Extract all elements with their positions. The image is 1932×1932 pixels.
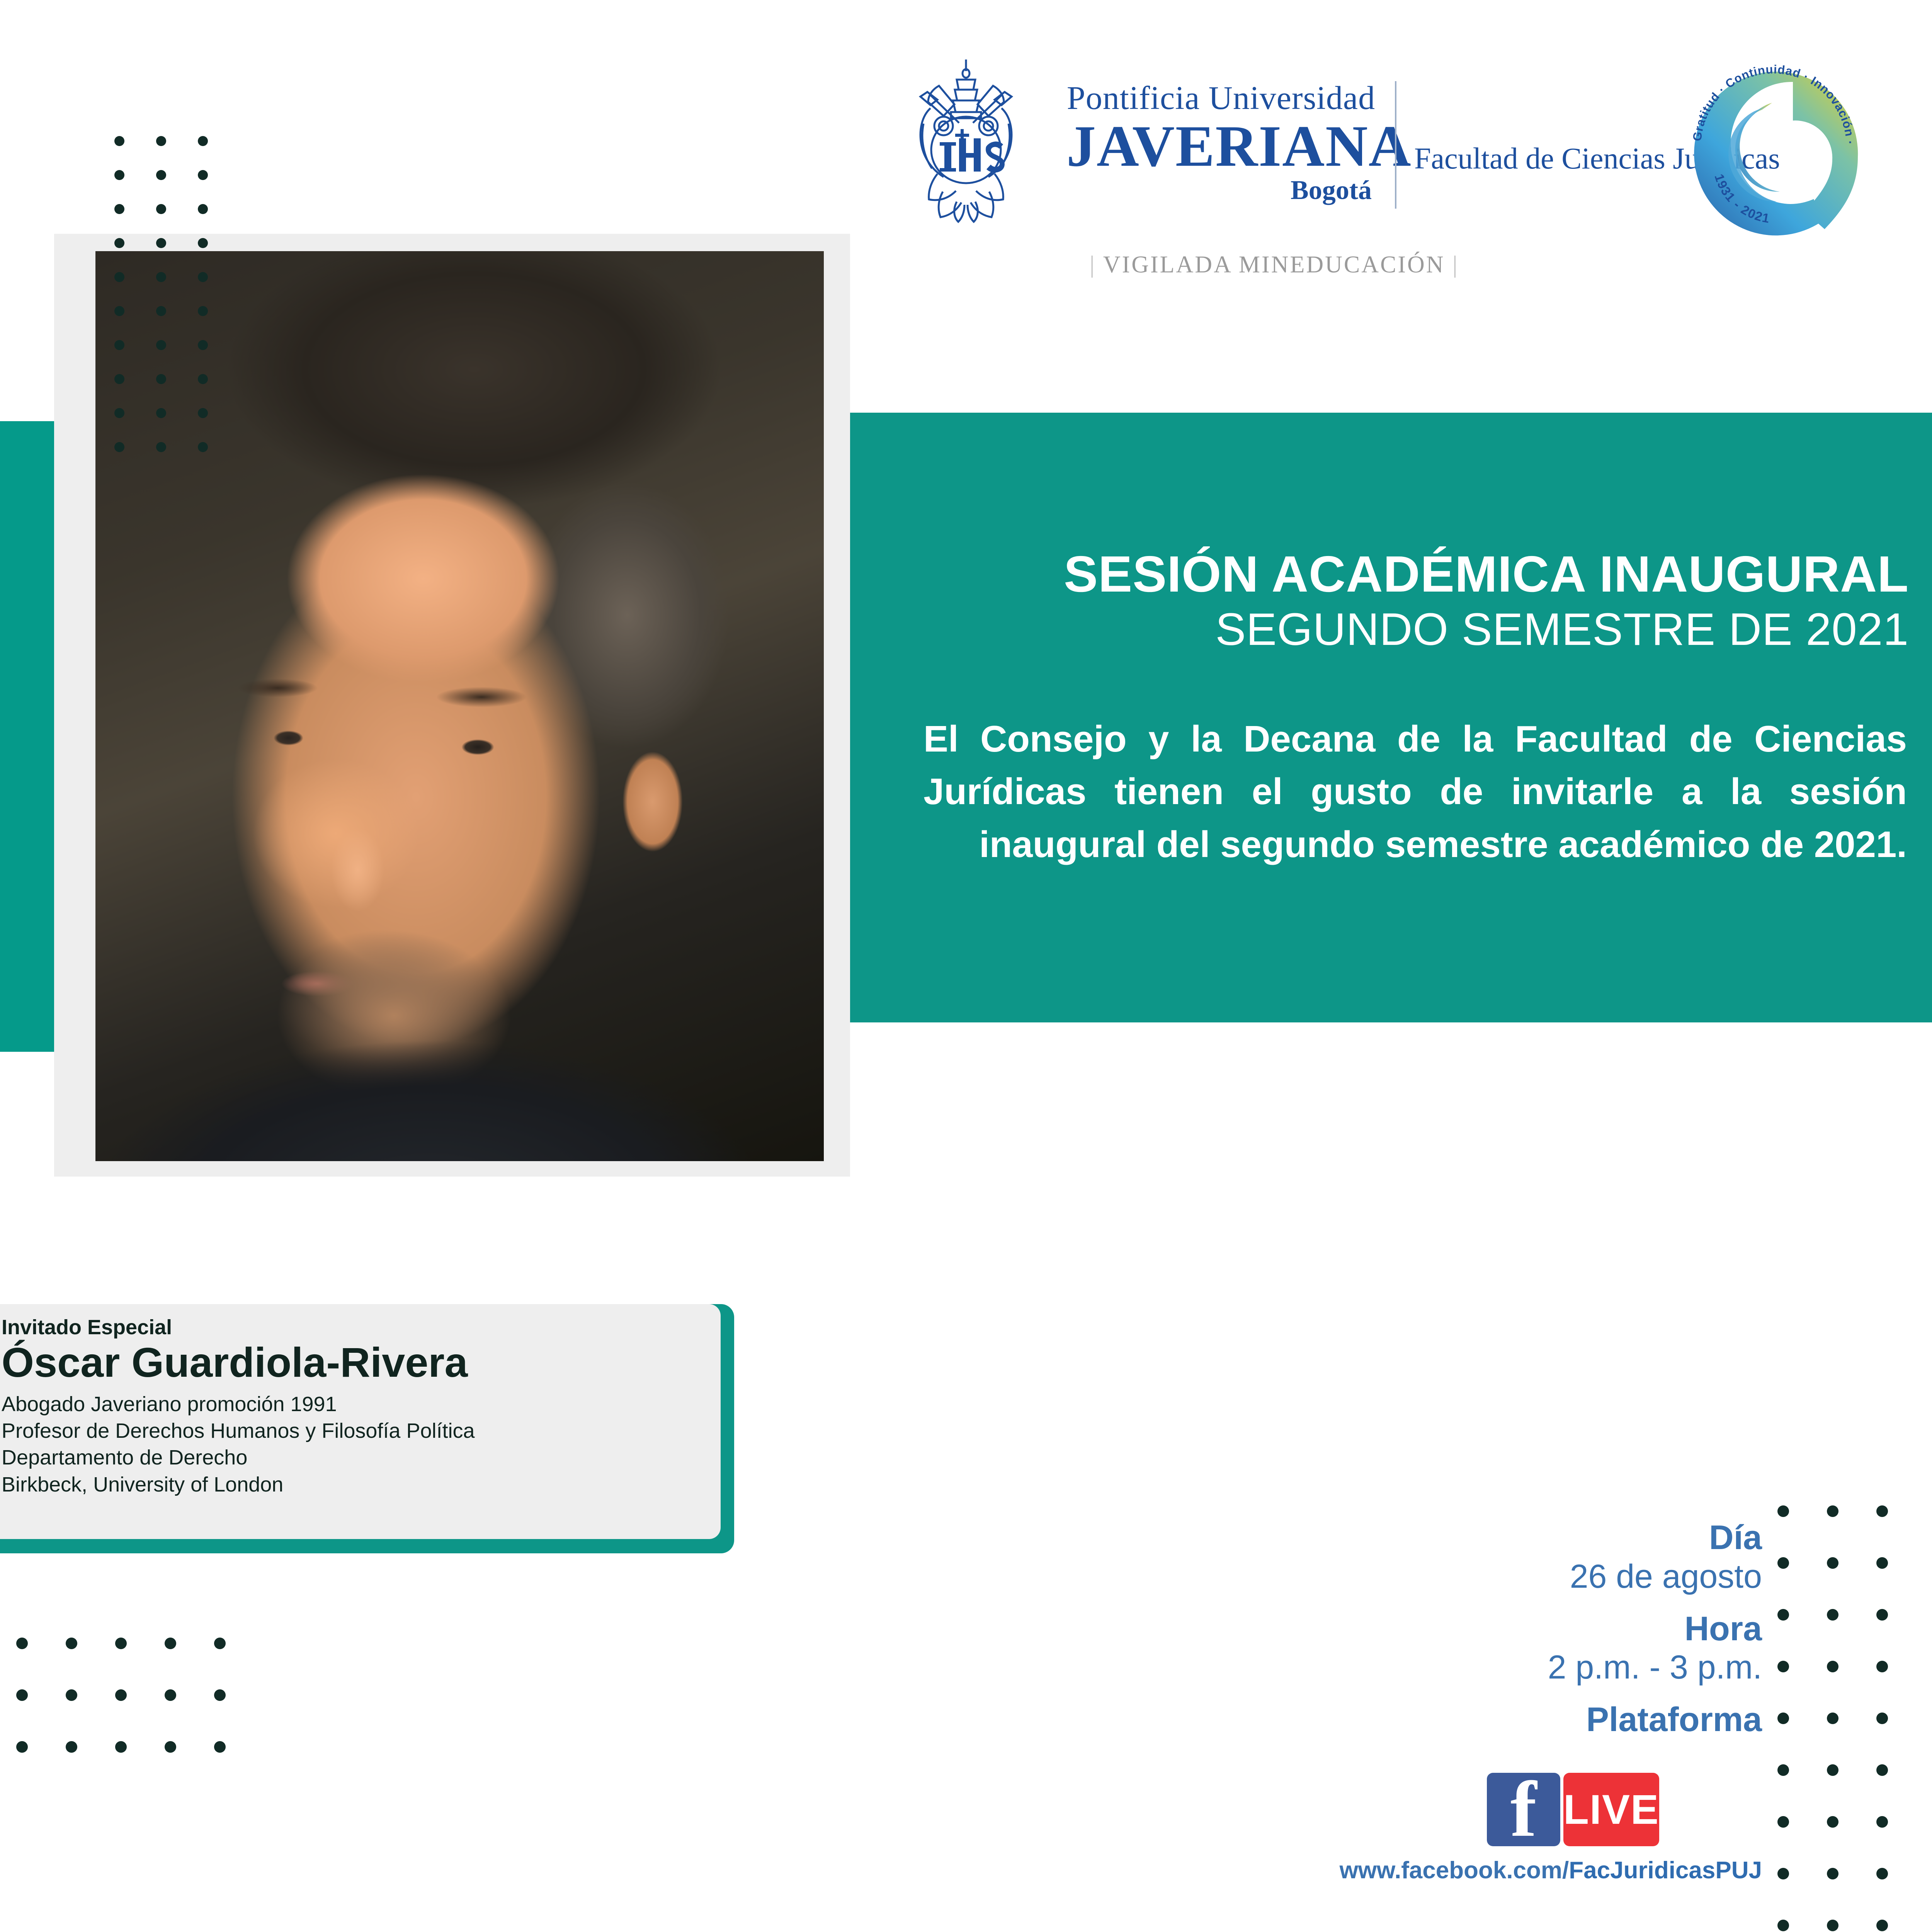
right-dot <box>1876 1764 1888 1776</box>
bottomleft-dot <box>165 1638 176 1649</box>
right-dot <box>1777 1816 1789 1828</box>
bottomleft-dot <box>115 1741 127 1753</box>
right-dot <box>1827 1557 1838 1569</box>
topleft-dot <box>156 374 166 384</box>
right-dot <box>1777 1505 1789 1517</box>
bottomleft-dot <box>165 1741 176 1753</box>
right-dot <box>1827 1505 1838 1517</box>
topleft-dot <box>114 272 124 282</box>
topleft-dot <box>198 442 208 452</box>
right-dot <box>1777 1868 1789 1879</box>
platform-badges[interactable]: f LIVE <box>1487 1773 1659 1846</box>
facebook-url-handle: FacJuridicasPUJ <box>1569 1857 1762 1884</box>
page-subtitle: SEGUNDO SEMESTRE DE 2021 <box>881 607 1909 652</box>
right-dot <box>1827 1868 1838 1879</box>
speaker-card: Invitado Especial Óscar Guardiola-Rivera… <box>0 1304 721 1539</box>
topleft-dot <box>198 170 208 180</box>
anniversary-90-logo: Gratitud · Continuidad · Innovación · Es… <box>1677 46 1870 240</box>
bottomleft-dot <box>115 1689 127 1701</box>
topleft-dot <box>114 306 124 316</box>
topleft-dot <box>114 374 124 384</box>
facebook-f-icon[interactable]: f <box>1487 1773 1560 1846</box>
topleft-dot <box>114 408 124 418</box>
bottomleft-dot <box>16 1689 28 1701</box>
topleft-dot <box>198 204 208 214</box>
bottomleft-dot <box>16 1741 28 1753</box>
speaker-name: Óscar Guardiola-Rivera <box>2 1340 721 1386</box>
university-line-2: JAVERIANA <box>1066 117 1376 175</box>
right-dot <box>1876 1609 1888 1621</box>
speaker-credential-line: Birkbeck, University of London <box>2 1471 721 1498</box>
topleft-dot <box>156 170 166 180</box>
speaker-portrait-image <box>95 251 824 1161</box>
right-dot <box>1876 1868 1888 1879</box>
speaker-label: Invitado Especial <box>2 1316 721 1339</box>
topleft-dot <box>198 374 208 384</box>
bottomleft-dot <box>214 1638 226 1649</box>
bottomleft-dot <box>66 1638 77 1649</box>
topleft-dot <box>198 238 208 248</box>
day-label: Día <box>1376 1519 1762 1557</box>
right-dot <box>1876 1713 1888 1724</box>
speaker-credential-line: Departamento de Derecho <box>2 1444 721 1471</box>
topleft-dot <box>156 442 166 452</box>
vigilada-text: VIGILADA MINEDUCACIÓN <box>1103 252 1445 278</box>
right-dot <box>1827 1816 1838 1828</box>
event-details: Día 26 de agosto Hora 2 p.m. - 3 p.m. Pl… <box>1376 1519 1762 1739</box>
vigilada-bar-right: | <box>1452 252 1459 278</box>
topleft-dot <box>198 136 208 146</box>
day-value: 26 de agosto <box>1376 1557 1762 1597</box>
university-name: Pontificia Universidad JAVERIANA Bogotá <box>1066 81 1376 204</box>
topleft-dot <box>198 340 208 350</box>
university-line-1: Pontificia Universidad <box>1066 81 1376 114</box>
topleft-dot <box>198 306 208 316</box>
right-dot <box>1827 1609 1838 1621</box>
right-dot <box>1827 1661 1838 1672</box>
facebook-url[interactable]: www.facebook.com/FacJuridicasPUJ <box>1306 1857 1762 1884</box>
bottomleft-dot <box>16 1638 28 1649</box>
right-dot <box>1777 1713 1789 1724</box>
javeriana-crest-icon <box>881 58 1051 224</box>
right-dot <box>1777 1609 1789 1621</box>
invitation-body-text: El Consejo y la Decana de la Facultad de… <box>923 713 1907 871</box>
bottomleft-dot <box>165 1689 176 1701</box>
topleft-dot <box>114 442 124 452</box>
poster-canvas: Pontificia Universidad JAVERIANA Bogotá … <box>0 0 1932 1932</box>
topleft-dot <box>156 306 166 316</box>
bottomleft-dot <box>214 1689 226 1701</box>
topleft-dot <box>156 204 166 214</box>
header-divider <box>1395 81 1396 209</box>
right-dot <box>1777 1764 1789 1776</box>
speaker-credential-line: Profesor de Derechos Humanos y Filosofía… <box>2 1418 721 1444</box>
topleft-dot <box>156 238 166 248</box>
topleft-dot <box>114 340 124 350</box>
facebook-url-prefix: www.facebook.com/ <box>1340 1857 1569 1884</box>
topleft-dot <box>156 272 166 282</box>
right-dot <box>1827 1920 1838 1931</box>
topleft-dot <box>156 340 166 350</box>
bottomleft-dot <box>66 1689 77 1701</box>
topleft-dot <box>198 272 208 282</box>
right-dot <box>1876 1505 1888 1517</box>
topleft-dot <box>114 204 124 214</box>
university-line-3: Bogotá <box>1066 177 1376 204</box>
vigilada-bar-left: | <box>1090 252 1096 278</box>
right-dot <box>1777 1920 1789 1931</box>
right-dot <box>1876 1661 1888 1672</box>
speaker-credential-line: Abogado Javeriano promoción 1991 <box>2 1391 721 1418</box>
right-dot <box>1876 1816 1888 1828</box>
bottomleft-dot <box>115 1638 127 1649</box>
topleft-dot <box>114 170 124 180</box>
bottomleft-dot <box>66 1741 77 1753</box>
right-dot <box>1777 1661 1789 1672</box>
topleft-dot <box>114 238 124 248</box>
platform-label: Plataforma <box>1376 1701 1762 1739</box>
page-title: SESIÓN ACADÉMICA INAUGURAL <box>881 549 1909 600</box>
speaker-photo <box>95 251 824 1161</box>
topleft-dot <box>114 136 124 146</box>
topleft-dot <box>156 408 166 418</box>
time-value: 2 p.m. - 3 p.m. <box>1376 1648 1762 1687</box>
right-dot <box>1876 1557 1888 1569</box>
right-dot <box>1876 1920 1888 1931</box>
time-label: Hora <box>1376 1610 1762 1648</box>
topleft-dot <box>156 136 166 146</box>
right-dot <box>1827 1764 1838 1776</box>
speaker-credentials: Abogado Javeriano promoción 1991 Profeso… <box>2 1391 721 1498</box>
right-dot <box>1827 1713 1838 1724</box>
vigilada-mineducacion-notice: | VIGILADA MINEDUCACIÓN | <box>1090 251 1459 279</box>
live-badge[interactable]: LIVE <box>1563 1773 1659 1846</box>
bottomleft-dot <box>214 1741 226 1753</box>
topleft-dot <box>198 408 208 418</box>
right-dot <box>1777 1557 1789 1569</box>
